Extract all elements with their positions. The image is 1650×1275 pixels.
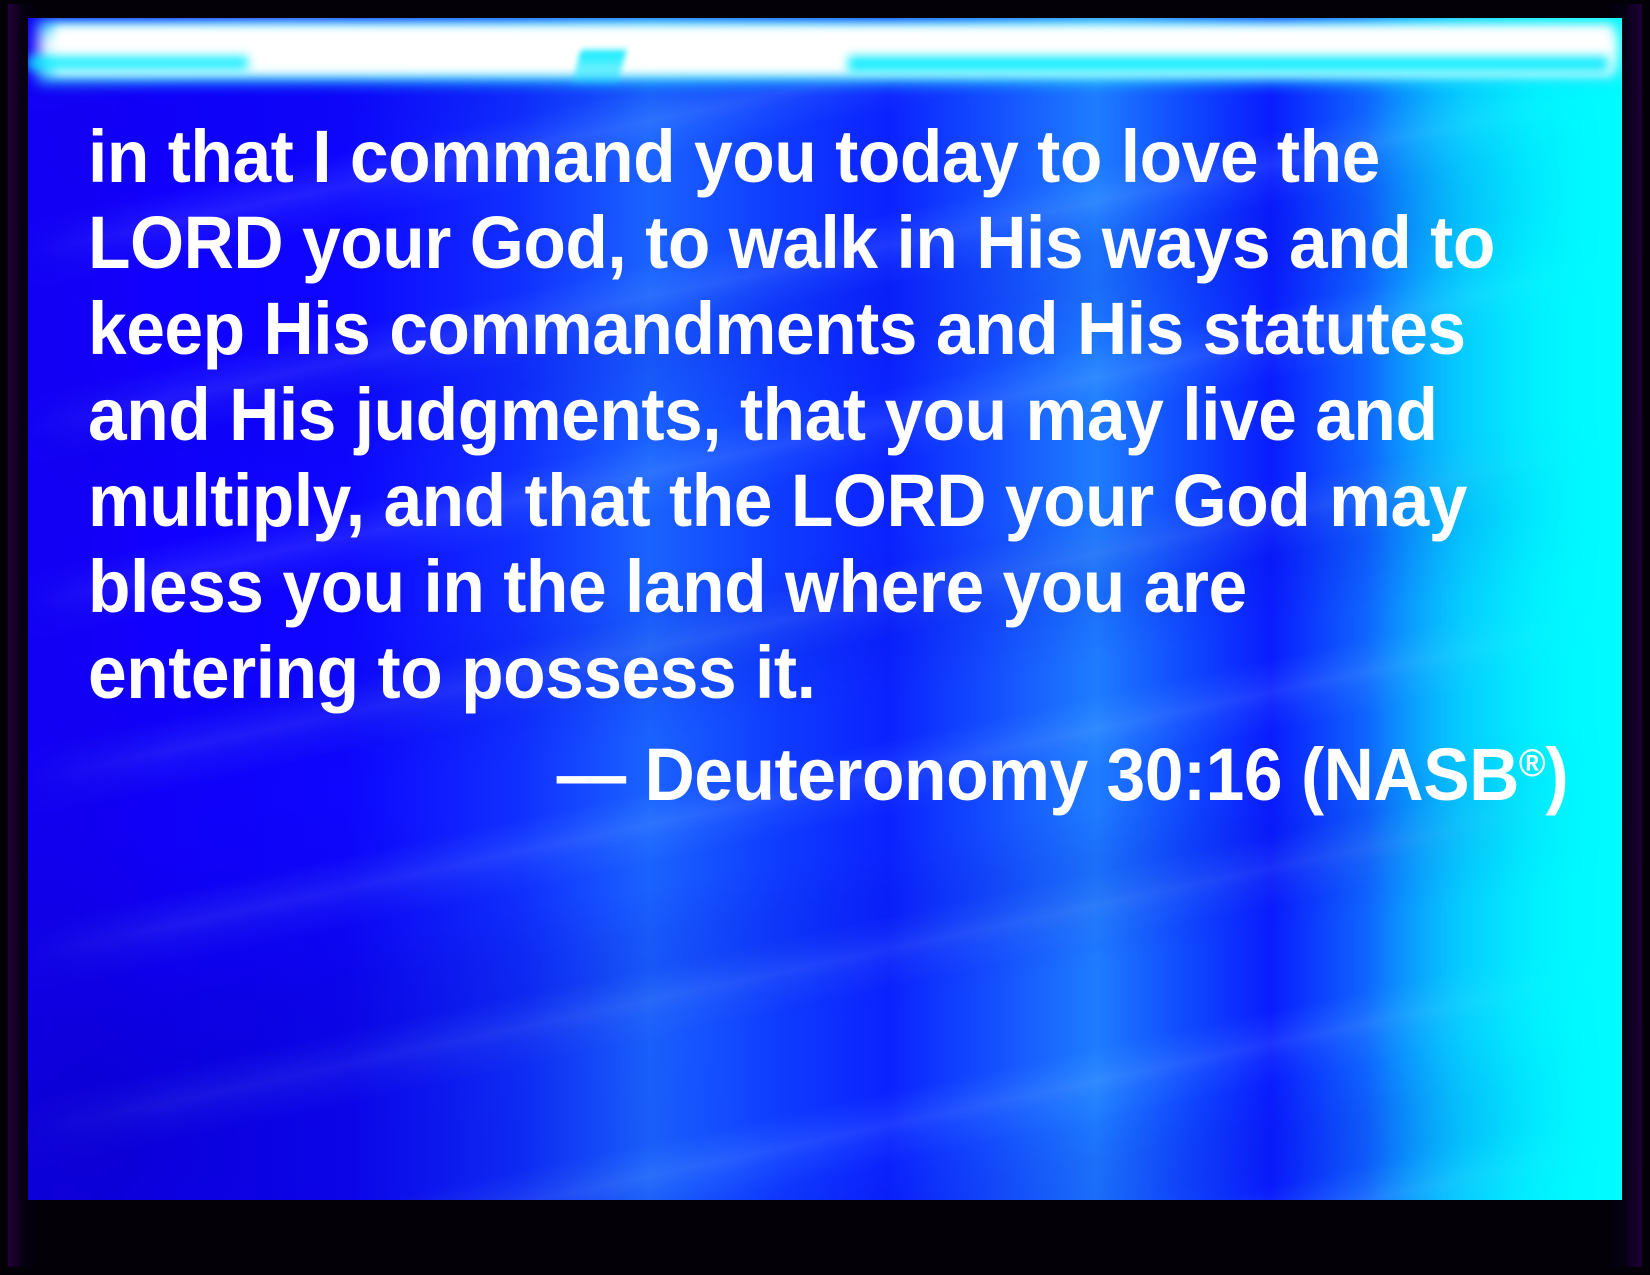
top-glow-band bbox=[28, 18, 1622, 88]
attribution-translation: (NASB bbox=[1301, 733, 1519, 816]
glow-streak-right bbox=[848, 56, 1608, 72]
verse-attribution: — Deuteronomy 30:16 (NASB®) bbox=[88, 718, 1576, 821]
verse-line: multiply, and that the LORD your God may bbox=[88, 458, 1479, 544]
verse-line: entering to possess it. bbox=[88, 630, 1479, 716]
attribution-text: — Deuteronomy 30:16 (NASB®) bbox=[556, 718, 1568, 821]
verse-slide: in that I command you today to love the … bbox=[0, 0, 1650, 1275]
registered-trademark-icon: ® bbox=[1519, 742, 1546, 785]
attribution-reference: 30:16 bbox=[1106, 733, 1282, 816]
attribution-book: Deuteronomy bbox=[644, 733, 1087, 816]
attribution-dash: — bbox=[556, 733, 625, 816]
verse-line: in that I command you today to love the bbox=[88, 114, 1479, 200]
glow-core bbox=[54, 26, 1612, 74]
verse-line: and His judgments, that you may live and bbox=[88, 372, 1479, 458]
verse-line: bless you in the land where you are bbox=[88, 544, 1479, 630]
verse-line: keep His commandments and His statutes bbox=[88, 286, 1479, 372]
attribution-paren-close: ) bbox=[1545, 733, 1568, 816]
glow-halo-icon bbox=[38, 20, 1618, 84]
gradient-canvas: in that I command you today to love the … bbox=[28, 18, 1622, 1200]
glow-streak-left bbox=[28, 56, 248, 70]
glow-notch bbox=[572, 50, 627, 86]
verse-text-block: in that I command you today to love the … bbox=[88, 114, 1568, 716]
verse-line: LORD your God, to walk in His ways and t… bbox=[88, 200, 1479, 286]
